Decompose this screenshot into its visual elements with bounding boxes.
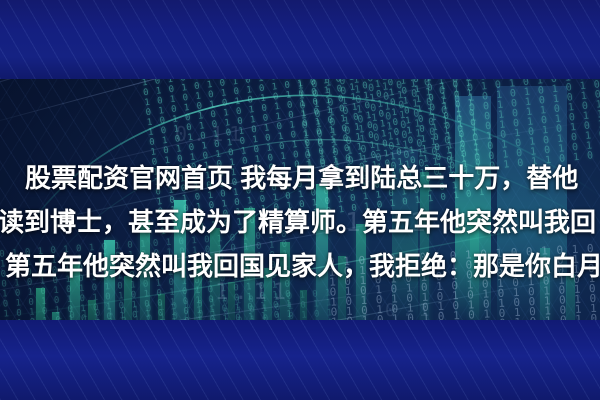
caption-text-block: 股票配资官网首页 我每月拿到陆总三十万，替他 络读到博士，甚至成为了精算师。第五… [0, 0, 600, 400]
caption-line-1: 股票配资官网首页 我每月拿到陆总三十万，替他 [25, 163, 578, 193]
banner-image: 1 0 1 0 1 0 1 0 1 0 1 0 1 0 1 0 1 0 1 0 … [0, 0, 600, 400]
caption-line-3: 第五年他突然叫我回国见家人，我拒绝：那是你白月 [5, 251, 600, 281]
caption-line-2: 络读到博士，甚至成为了精算师。第五年他突然叫我回 [0, 207, 596, 237]
